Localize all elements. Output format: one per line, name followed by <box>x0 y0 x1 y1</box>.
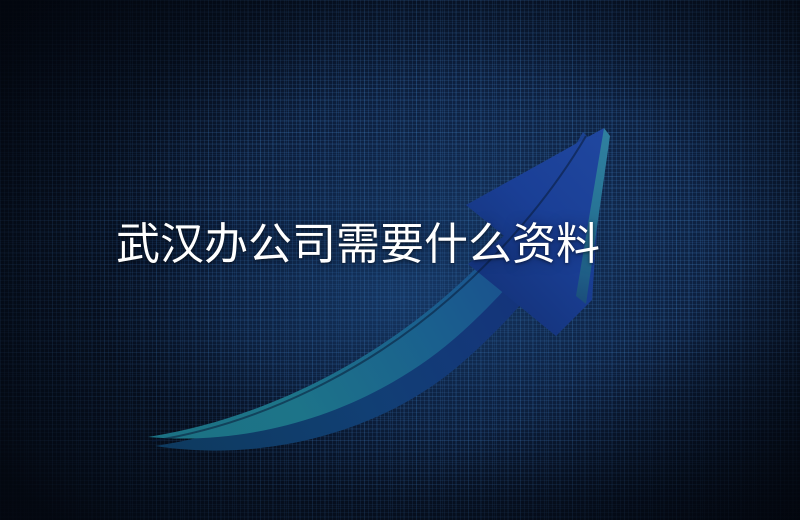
banner: 武汉办公司需要什么资料 <box>0 0 800 520</box>
page-title: 武汉办公司需要什么资料 <box>116 219 600 271</box>
